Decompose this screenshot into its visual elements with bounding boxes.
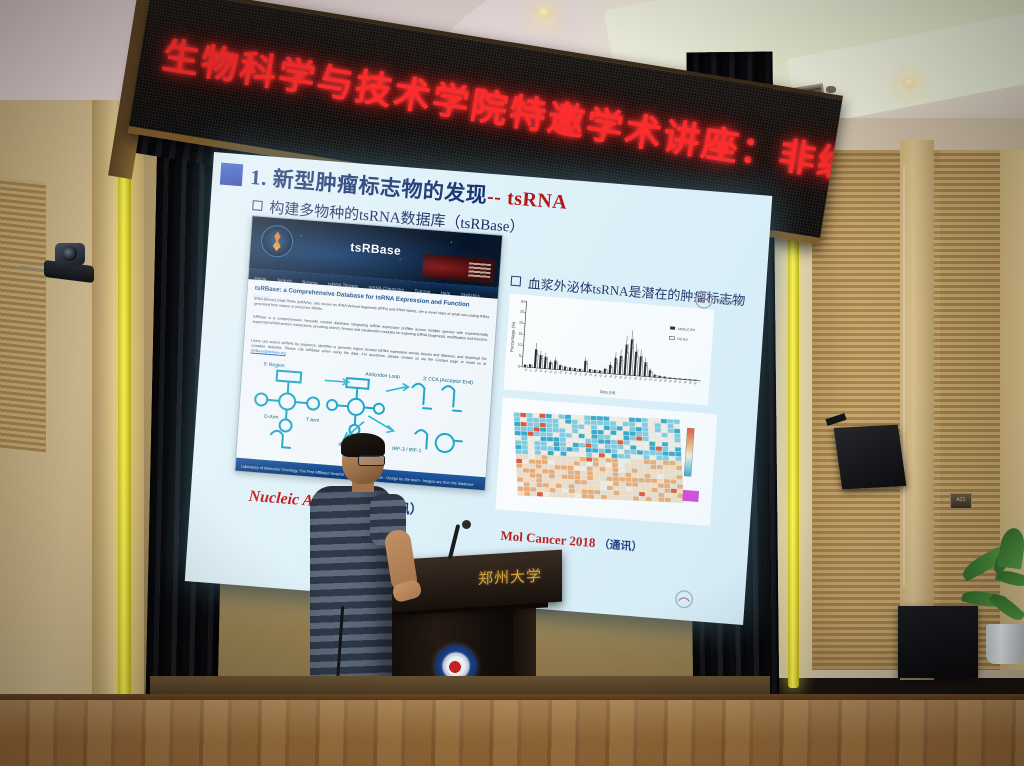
bullet-square-icon [252, 200, 263, 211]
svg-text:29: 29 [588, 372, 593, 377]
svg-text:19: 19 [538, 368, 543, 373]
svg-text:23: 23 [558, 370, 563, 375]
nav-item-chemistry[interactable]: tsRNA Chemistry [368, 285, 404, 293]
svg-text:10: 10 [517, 342, 521, 346]
svg-text:36: 36 [623, 375, 628, 380]
svg-text:20: 20 [543, 368, 548, 373]
website-brand: tsRBase [251, 232, 501, 266]
neon-strip-right [788, 168, 799, 688]
svg-text:49: 49 [688, 380, 693, 385]
nav-item-help[interactable]: Help [441, 290, 451, 296]
chart-xlabel: Size (nt) [600, 389, 616, 395]
svg-text:Anticodon Loop: Anticodon Loop [365, 372, 400, 381]
svg-text:5: 5 [519, 354, 521, 358]
citation-right-journal: Mol Cancer 2018 [500, 528, 596, 550]
downlight-4 [902, 77, 917, 89]
svg-text:30: 30 [520, 300, 524, 304]
svg-text:26: 26 [573, 371, 578, 376]
svg-text:34: 34 [613, 374, 618, 379]
tsrbase-logo-icon [260, 224, 294, 258]
svg-text:5' Region: 5' Region [263, 362, 285, 370]
svg-text:21: 21 [548, 369, 553, 374]
svg-text:D-Arm: D-Arm [264, 414, 279, 421]
svg-text:15: 15 [518, 331, 522, 335]
plant-pot [986, 624, 1024, 664]
nav-item-statistics[interactable]: Statistics [461, 292, 480, 298]
nav-item-search[interactable]: Search [277, 277, 292, 283]
svg-text:16: 16 [523, 367, 528, 372]
svg-text:tRF-3 / tRF-1: tRF-3 / tRF-1 [392, 446, 422, 454]
bullet-square-icon-right [511, 276, 522, 287]
svg-text:33: 33 [608, 374, 613, 379]
svg-text:郑州大学: 郑州大学 [716, 297, 742, 308]
citation-right-role: （通讯） [598, 538, 643, 553]
chart-ylabel: Percentage (%) [509, 321, 516, 352]
svg-text:24: 24 [563, 370, 568, 375]
citation-right: Mol Cancer 2018 （通讯） [500, 528, 643, 555]
ev-size-distribution-bar-chart: Percentage (%) 0510 15202530 16171819202… [504, 294, 715, 406]
heatmap-cells [508, 407, 689, 508]
svg-text:41: 41 [648, 377, 653, 382]
svg-text:32: 32 [603, 373, 608, 378]
svg-text:22: 22 [553, 369, 558, 374]
svg-text:43: 43 [658, 377, 663, 382]
svg-text:18: 18 [533, 368, 538, 373]
speaker-glasses-icon [358, 455, 385, 466]
room-sign: A21 [950, 493, 972, 509]
right-pillar [900, 140, 934, 680]
tsrna-expression-heatmap [495, 397, 717, 526]
wall-cable [903, 166, 905, 586]
nav-item-browse[interactable]: Browse [302, 279, 318, 285]
svg-text:0: 0 [518, 365, 520, 369]
svg-text:3' CCA (Acceptor End): 3' CCA (Acceptor End) [423, 376, 474, 386]
left-slat-panel [0, 178, 46, 453]
svg-text:T Arm: T Arm [306, 417, 320, 424]
svg-text:27: 27 [578, 371, 583, 376]
svg-text:47: 47 [678, 379, 683, 384]
svg-text:38: 38 [633, 376, 638, 381]
downlight-1 [536, 6, 553, 19]
legend-item-1: NC-EV [677, 337, 689, 342]
speaker-hair [341, 433, 385, 457]
svg-text:42: 42 [653, 377, 658, 382]
neon-strip-left [118, 118, 131, 698]
svg-text:25: 25 [568, 370, 573, 375]
slide-right-panel: Percentage (%) 0510 15202530 16171819202… [495, 294, 741, 532]
nav-item-home[interactable]: Home [254, 276, 267, 282]
svg-text:28: 28 [583, 372, 588, 377]
svg-text:50: 50 [693, 380, 698, 385]
svg-text:31: 31 [598, 373, 603, 378]
podium-calligraphy: 郑州大学 [478, 564, 554, 602]
slide-title-marker [220, 163, 243, 187]
svg-text:37: 37 [628, 375, 633, 380]
svg-text:48: 48 [683, 379, 688, 384]
svg-text:30: 30 [593, 372, 598, 377]
university-logo-slide-footer-icon [672, 587, 729, 613]
svg-text:17: 17 [528, 367, 533, 372]
microphone-head-icon [462, 520, 471, 529]
lecture-hall-photo: 生物科学与技术学院特邀学术讲座：非编码RNA与肿瘤 1. 新型肿瘤标志物的发现-… [0, 0, 1024, 766]
nav-item-tutorial[interactable]: Tutorial [414, 288, 430, 294]
chart-legend: NSCLC-EV NC-EV [669, 326, 696, 342]
svg-text:35: 35 [618, 374, 623, 379]
floor-speaker [898, 606, 978, 678]
svg-text:44: 44 [663, 378, 668, 383]
nav-item-targets[interactable]: tsRNA Targets [328, 281, 358, 288]
svg-text:20: 20 [519, 320, 523, 324]
room-sign-text: A21 [951, 494, 971, 507]
svg-text:25: 25 [520, 309, 524, 313]
svg-text:46: 46 [673, 379, 678, 384]
floor-reflection [0, 700, 1024, 766]
slide-title-en: tsRNA [506, 187, 568, 214]
camera-lens-icon [62, 246, 77, 261]
right-pillar-far [1000, 150, 1024, 670]
svg-text:45: 45 [668, 378, 673, 383]
slide-title-number: 1. [250, 165, 268, 190]
university-logo-icon [422, 254, 495, 284]
svg-text:40: 40 [643, 376, 648, 381]
legend-item-0: NSCLC-EV [678, 327, 696, 332]
ceiling-fixture-1 [826, 86, 836, 93]
wall-speaker [834, 425, 907, 490]
slide-title-dash: -- [486, 186, 502, 209]
svg-text:39: 39 [638, 376, 643, 381]
